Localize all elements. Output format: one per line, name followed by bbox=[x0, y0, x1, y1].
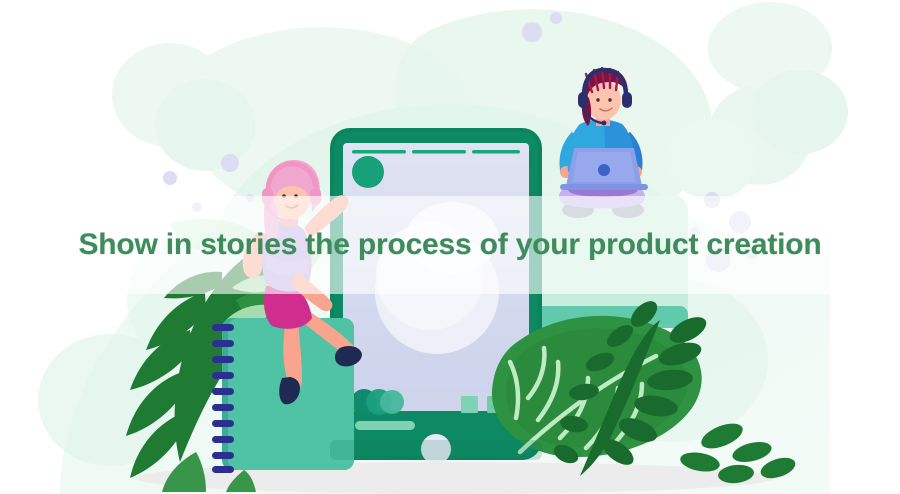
caption-bar bbox=[355, 421, 415, 430]
laptop bbox=[560, 148, 648, 190]
story-avatar[interactable] bbox=[352, 156, 384, 188]
headline-text: Show in stories the process of your prod… bbox=[0, 222, 900, 268]
illustration-banner: Show in stories the process of your prod… bbox=[0, 0, 900, 494]
story-progress-bars[interactable] bbox=[352, 150, 520, 154]
reaction-circles[interactable] bbox=[351, 389, 404, 415]
